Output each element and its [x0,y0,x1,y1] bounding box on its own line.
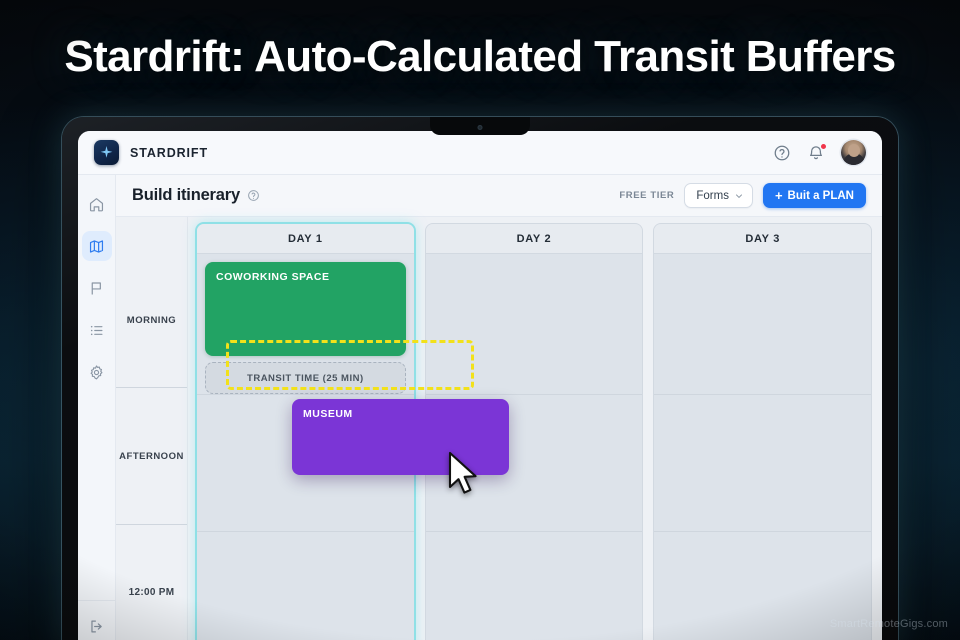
sidebar-item-settings[interactable] [82,357,112,387]
row-divider [197,394,414,395]
tier-label: FREE TIER [619,190,674,201]
plus-icon: + [775,189,783,202]
bell-icon[interactable] [807,144,825,162]
time-slot-afternoon: AFTERNOON [116,451,187,462]
webcam-notch [430,117,530,135]
time-row-divider [116,387,187,388]
watermark: SmartRemoteGigs.com [830,618,948,630]
help-circle-icon[interactable] [773,144,791,162]
sidebar-item-map[interactable] [82,231,112,261]
row-divider [426,394,643,395]
avatar[interactable] [841,140,866,165]
day-header-1: DAY 1 [197,224,414,254]
app-body: Build itinerary FREE TIER Forms [78,175,882,640]
forms-dropdown[interactable]: Forms [684,183,753,208]
page-headline: Stardrift: Auto-Calculated Transit Buffe… [0,32,960,82]
notification-dot [820,143,827,150]
toolbar-actions: FREE TIER Forms + Buit a PLAN [619,183,866,208]
title-help-icon[interactable] [247,189,260,202]
page-title: Build itinerary [132,186,240,205]
topbar-actions [773,140,866,165]
time-slot-morning: MORNING [116,315,187,326]
row-divider [654,531,871,532]
row-divider [654,394,871,395]
page-toolbar: Build itinerary FREE TIER Forms [116,175,882,217]
sidebar-item-list[interactable] [82,315,112,345]
day-body-3[interactable] [654,254,871,640]
row-divider [426,531,643,532]
forms-dropdown-value: Forms [696,190,729,202]
app-topbar: STARDRIFT [78,131,882,175]
sidebar-item-flag[interactable] [82,273,112,303]
build-plan-button[interactable]: + Buit a PLAN [763,183,866,208]
time-slot-noon: 12:00 PM [116,587,187,598]
sidebar-bottom [78,600,115,640]
brand-name: STARDRIFT [130,146,208,160]
day-column-3[interactable]: DAY 3 [653,223,872,640]
transit-buffer-label: TRANSIT TIME (25 MIN) [247,373,364,384]
row-divider [197,531,414,532]
event-label-coworking: COWORKING SPACE [216,271,329,283]
laptop-frame: STARDRIFT [62,117,898,640]
event-label-museum: MUSEUM [303,408,353,420]
transit-buffer-block[interactable]: TRANSIT TIME (25 MIN) [205,362,406,394]
sidebar-item-home[interactable] [82,189,112,219]
app-screen: STARDRIFT [78,131,882,640]
sidebar [78,175,116,640]
star-sparkle-icon [94,140,119,165]
time-axis: MORNING AFTERNOON 12:00 PM [116,217,188,640]
webcam-icon [478,125,483,130]
arrow-cursor [446,451,480,502]
main-content: Build itinerary FREE TIER Forms [116,175,882,640]
day-header-2: DAY 2 [426,224,643,254]
time-row-divider [116,524,187,525]
build-plan-label: Buit a PLAN [788,190,854,202]
sidebar-item-logout[interactable] [82,611,112,640]
chevron-down-icon [734,191,744,201]
event-card-coworking[interactable]: COWORKING SPACE [205,262,406,356]
itinerary-board: MORNING AFTERNOON 12:00 PM DAY 1 [116,217,882,640]
brand-block[interactable]: STARDRIFT [94,140,208,165]
day-header-3: DAY 3 [654,224,871,254]
